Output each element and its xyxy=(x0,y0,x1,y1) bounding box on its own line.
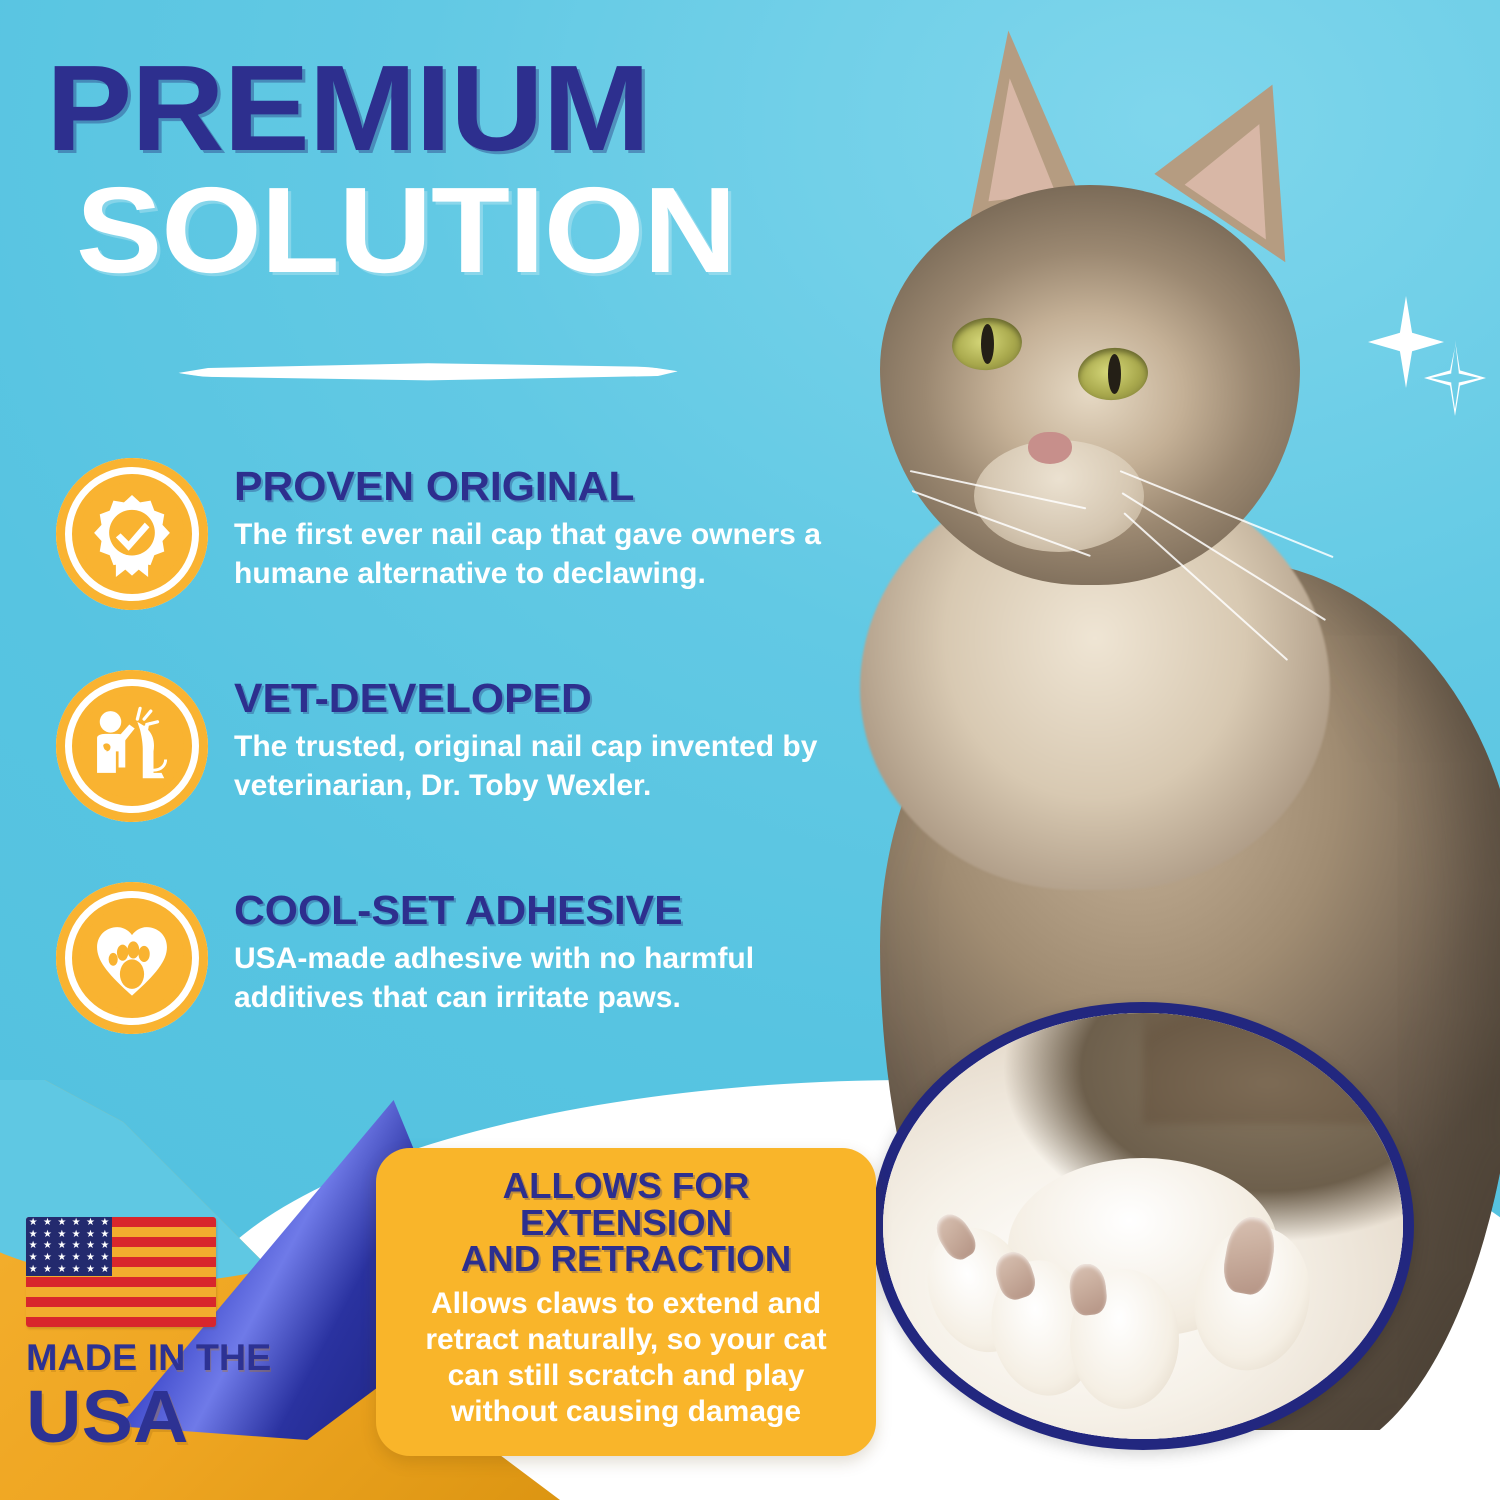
feature-title: PROVEN ORIGINAL xyxy=(234,466,858,507)
callout-title-line-1: ALLOWS FOR EXTENSION xyxy=(503,1165,750,1243)
feature-list: PROVEN ORIGINAL The first ever nail cap … xyxy=(56,458,846,1094)
paw-fur xyxy=(1143,1002,1414,1124)
cat-pupil-left xyxy=(981,324,994,364)
product-marketing-banner: PREMIUM SOLUTION PROVEN ORIGINAL The fir… xyxy=(0,0,1500,1500)
feature-description: The first ever nail cap that gave owners… xyxy=(234,515,834,593)
feature-description: USA-made adhesive with no harmful additi… xyxy=(234,939,834,1017)
award-ribbon-check-icon xyxy=(56,458,208,610)
made-in-usa-line-2: USA xyxy=(26,1380,296,1454)
feature-item: COOL-SET ADHESIVE USA-made adhesive with… xyxy=(56,882,846,1034)
feature-item: VET-DEVELOPED The trusted, original nail… xyxy=(56,670,846,822)
headline-line-2: SOLUTION xyxy=(76,174,913,286)
cat-ear-left-inner xyxy=(976,75,1056,201)
cat-nose xyxy=(1028,432,1072,464)
cat-paw-inset xyxy=(872,1002,1414,1450)
feature-title: VET-DEVELOPED xyxy=(234,678,858,719)
callout-description: Allows claws to extend and retract natur… xyxy=(398,1286,854,1430)
headline-line-1: PREMIUM xyxy=(46,52,915,164)
made-in-usa-line-1: MADE IN THE xyxy=(26,1339,291,1376)
cat-pupil-right xyxy=(1108,354,1121,394)
heart-paw-icon xyxy=(56,882,208,1034)
made-in-usa-badge: ★★★★★★ ★★★★★★ ★★★★★★ ★★★★★★ ★★★★★★ MADE … xyxy=(26,1217,286,1454)
feature-item: PROVEN ORIGINAL The first ever nail cap … xyxy=(56,458,846,610)
callout-title: ALLOWS FOR EXTENSION AND RETRACTION xyxy=(393,1168,858,1278)
flag-canton: ★★★★★★ ★★★★★★ ★★★★★★ ★★★★★★ ★★★★★★ xyxy=(26,1217,112,1276)
headline-block: PREMIUM SOLUTION xyxy=(46,52,866,286)
feature-title: COOL-SET ADHESIVE xyxy=(234,890,858,931)
usa-flag-icon: ★★★★★★ ★★★★★★ ★★★★★★ ★★★★★★ ★★★★★★ xyxy=(26,1217,216,1327)
vet-high-five-cat-icon xyxy=(56,670,208,822)
feature-description: The trusted, original nail cap invented … xyxy=(234,727,834,805)
extension-retraction-callout: ALLOWS FOR EXTENSION AND RETRACTION Allo… xyxy=(376,1148,876,1456)
callout-title-line-2: AND RETRACTION xyxy=(461,1238,791,1279)
